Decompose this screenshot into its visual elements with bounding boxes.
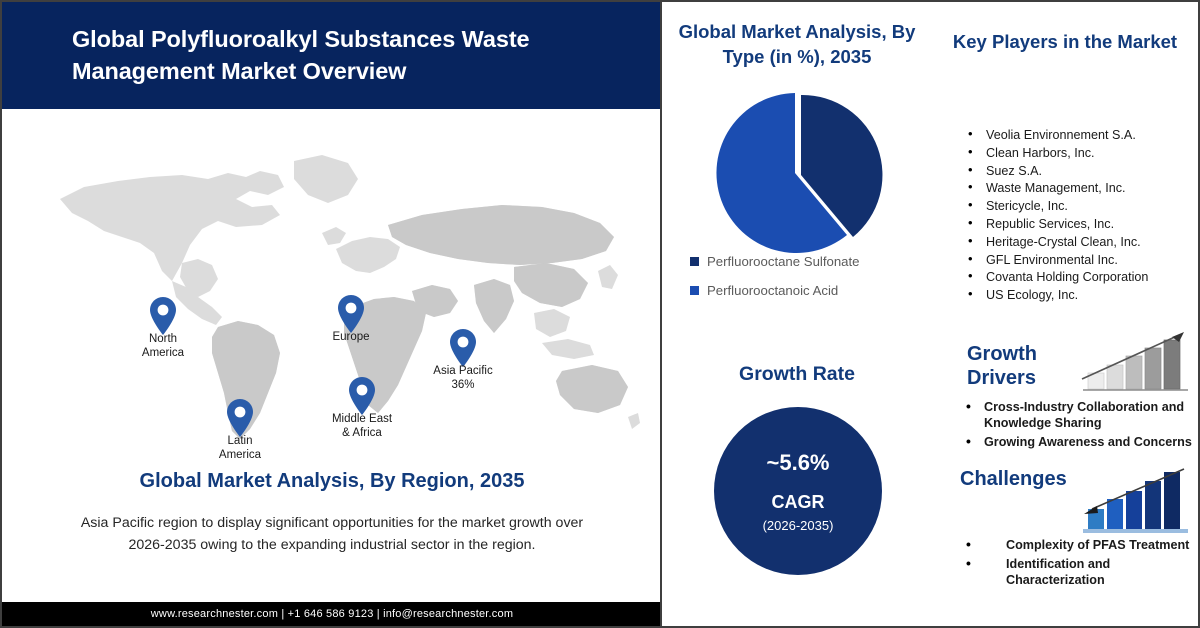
map-label-asia-pacific: Asia Pacific36% [433,365,492,392]
legend-label-0: Perfluorooctane Sulfonate [707,254,860,269]
list-item: Covanta Holding Corporation [962,269,1192,285]
list-item: Suez S.A. [962,163,1192,179]
ascending-blue-bars-with-down-arrow-icon [1080,463,1192,535]
growth-drivers-list: Cross-Industry Collaboration and Knowled… [958,399,1198,452]
challenges-list: Complexity of PFAS Treatment Identificat… [958,537,1198,591]
key-players-panel: Key Players in the Market Veolia Environ… [932,2,1198,315]
footer-bar: www.researchnester.com | +1 646 586 9123… [2,602,662,626]
cagr-badge: ~5.6% CAGR (2026-2035) [714,407,882,575]
legend-swatch-icon [690,257,699,266]
title-banner: Global Polyfluoroalkyl Substances Waste … [2,2,662,109]
map-panel: NorthAmerica Europe Asia Pacific36% Midd… [2,109,662,461]
legend-item-0: Perfluorooctane Sulfonate [690,254,930,269]
list-item: Clean Harbors, Inc. [962,145,1192,161]
cagr-percent: ~5.6% [767,450,830,476]
cagr-years: (2026-2035) [763,518,834,533]
pie-panel-title: Global Market Analysis, By Type (in %), … [672,20,922,70]
list-item: Cross-Industry Collaboration and Knowled… [958,399,1198,432]
map-pin-north-america[interactable]: NorthAmerica [150,297,176,335]
list-item: Stericycle, Inc. [962,198,1192,214]
market-share-pie-chart [712,90,884,256]
map-label-europe: Europe [332,331,369,345]
list-item: Veolia Environnement S.A. [962,127,1192,143]
legend-swatch-icon [690,286,699,295]
list-item: Waste Management, Inc. [962,180,1192,196]
map-pin-latin-america[interactable]: LatinAmerica [227,399,253,437]
infographic-page: Global Polyfluoroalkyl Substances Waste … [0,0,1200,628]
legend-item-1: Perfluorooctanoic Acid [690,283,930,298]
challenges-title: Challenges [960,468,1090,491]
map-pin-middle-east-africa[interactable]: Middle East& Africa [349,377,375,415]
map-label-middle-east-africa: Middle East& Africa [332,413,392,440]
drivers-challenges-panel: Growth Drivers Cross-Industry Collaborat… [932,315,1198,626]
list-item: Complexity of PFAS Treatment [958,537,1198,554]
left-column: Global Polyfluoroalkyl Substances Waste … [2,2,662,626]
list-item: GFL Environmental Inc. [962,252,1192,268]
map-label-north-america: NorthAmerica [142,333,184,360]
cagr-label: CAGR [772,492,825,513]
legend-label-1: Perfluorooctanoic Acid [707,283,838,298]
map-pin-europe[interactable]: Europe [338,295,364,333]
footer-contact-text: www.researchnester.com | +1 646 586 9123… [151,608,513,620]
page-title: Global Polyfluoroalkyl Substances Waste … [2,24,662,86]
region-analysis-heading: Global Market Analysis, By Region, 2035 [2,470,662,493]
pie-panel: Global Market Analysis, By Type (in %), … [662,2,932,315]
list-item: Heritage-Crystal Clean, Inc. [962,234,1192,250]
ascending-gray-bars-with-up-arrow-icon [1080,329,1192,395]
world-map-graphic [22,121,642,451]
list-item: Identification and Characterization [958,556,1198,589]
list-item: Growing Awareness and Concerns [958,434,1198,450]
pie-legend: Perfluorooctane Sulfonate Perfluorooctan… [690,254,930,312]
region-analysis-description: Asia Pacific region to display significa… [80,512,584,557]
growth-drivers-title: Growth Drivers [967,342,1087,391]
map-pin-asia-pacific[interactable]: Asia Pacific36% [450,329,476,367]
key-players-list: Veolia Environnement S.A. Clean Harbors,… [962,127,1192,305]
map-label-latin-america: LatinAmerica [219,435,261,462]
growth-rate-title: Growth Rate [662,363,932,386]
list-item: Republic Services, Inc. [962,216,1192,232]
right-grid: Global Market Analysis, By Type (in %), … [662,2,1198,626]
key-players-title: Key Players in the Market [944,30,1186,55]
list-item: US Ecology, Inc. [962,287,1192,303]
